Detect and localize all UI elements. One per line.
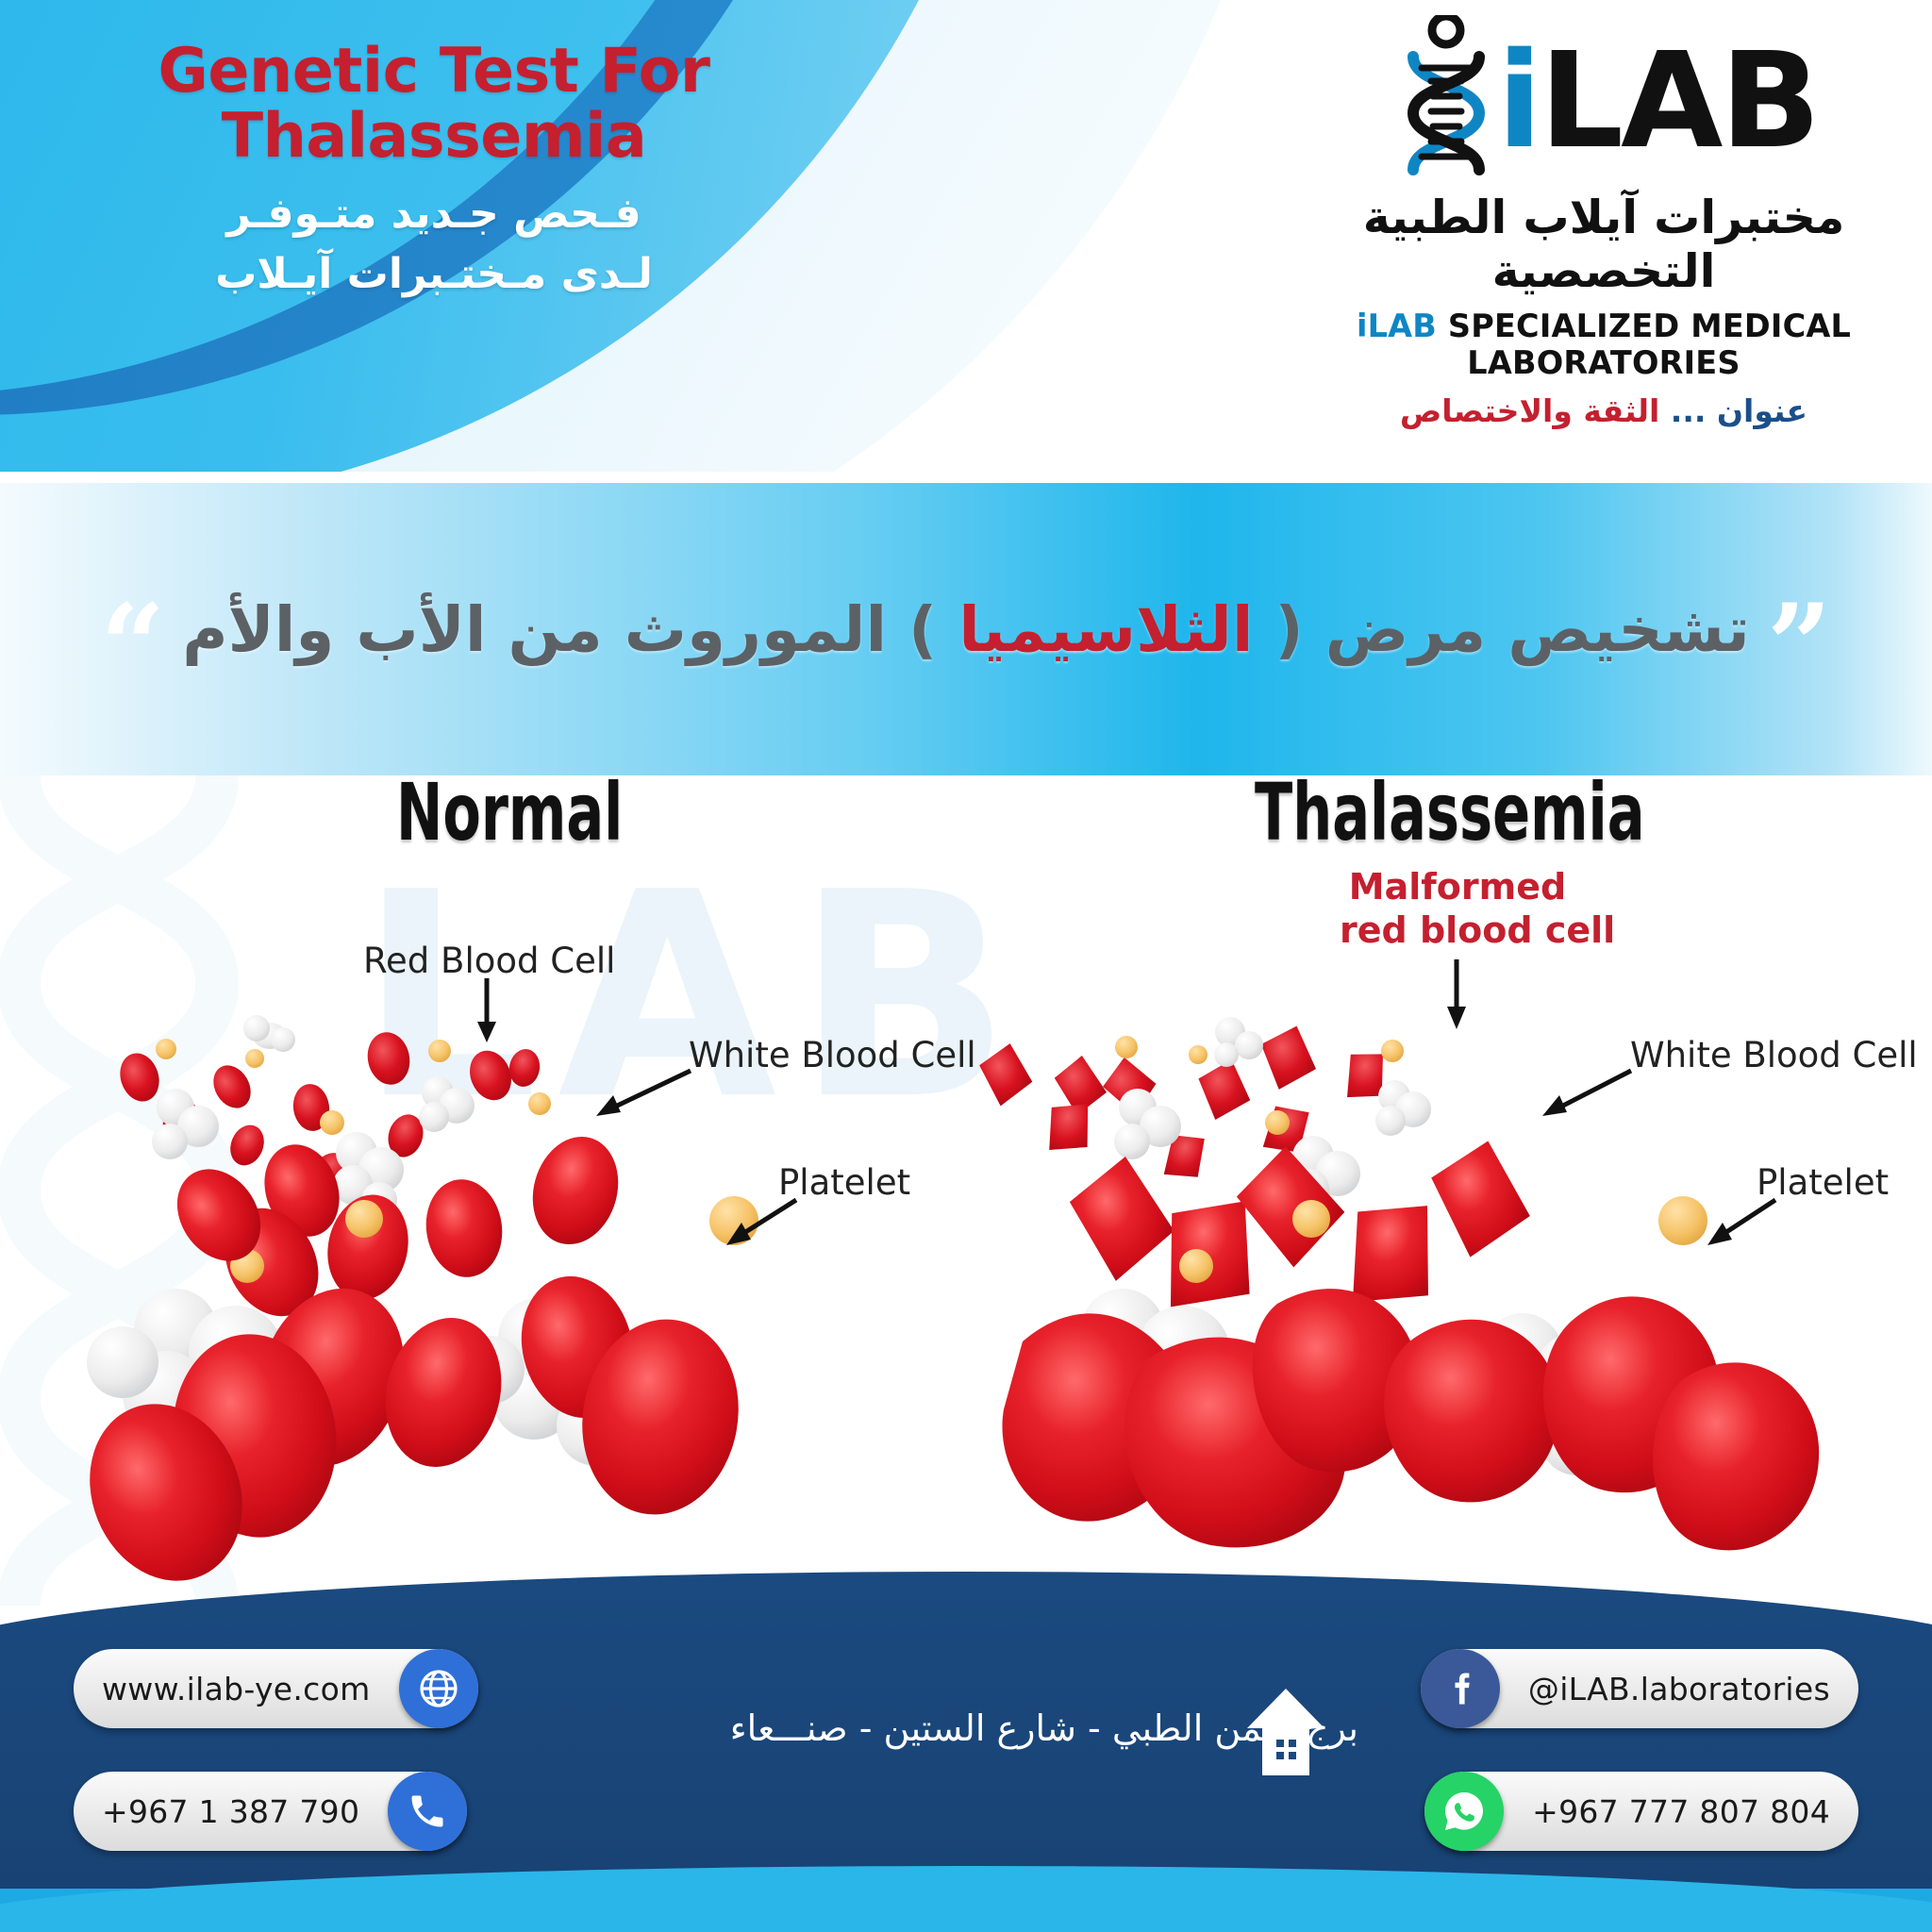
dna-helix-icon xyxy=(1390,15,1503,190)
whatsapp-icon[interactable] xyxy=(1424,1772,1504,1851)
address-text: برج اليمن الطبي - شارع الستين - صنـــعاء xyxy=(528,1707,1358,1749)
label-malformed-line2: red blood cell xyxy=(1340,908,1575,952)
poster-root: Genetic Test For Thalassemia فـحص جـديد … xyxy=(0,0,1932,1932)
header-section: Genetic Test For Thalassemia فـحص جـديد … xyxy=(0,0,1932,472)
quote-banner: ” تشخيص مرض ( الثلاسيميا ) الموروث من ال… xyxy=(0,483,1932,775)
label-white-blood-cell-thal: White Blood Cell xyxy=(1630,1035,1918,1075)
logo-slogan-prefix: عنوان ... xyxy=(1671,392,1807,429)
logo-english-rest: SPECIALIZED MEDICAL LABORATORIES xyxy=(1437,308,1851,381)
facebook-text: @iLAB.laboratories xyxy=(1500,1671,1858,1707)
logo-slogan-accent: الثقة والاختصاص xyxy=(1400,392,1659,429)
logo-english-name: iLAB SPECIALIZED MEDICAL LABORATORIES xyxy=(1302,308,1906,381)
logo-english-accent: iLAB xyxy=(1357,308,1437,344)
ilab-logo: iLAB مختبرات آيلاب الطبية التخصصية iLAB … xyxy=(1302,17,1906,429)
arrow-white-blood-cell-normal xyxy=(585,1063,698,1129)
arrow-platelet-normal xyxy=(717,1191,802,1257)
title-arabic-line2: لـدى مـختـبرات آيـلاب xyxy=(94,245,774,304)
thal-malformed-red-blood-cells xyxy=(1062,1135,1707,1320)
quote-highlight: الثلاسيميا xyxy=(958,593,1253,666)
logo-arabic-name: مختبرات آيلاب الطبية التخصصية xyxy=(1302,191,1906,298)
website-text: www.ilab-ye.com xyxy=(74,1671,399,1707)
label-malformed-line1: Malformed xyxy=(1340,865,1575,908)
logo-slogan: عنوان ... الثقة والاختصاص xyxy=(1302,392,1906,429)
house-icon xyxy=(1245,1687,1326,1782)
whatsapp-pill[interactable]: +967 777 807 804 xyxy=(1424,1772,1858,1851)
arrow-red-blood-cell xyxy=(472,978,509,1044)
thal-large-malformed-cells xyxy=(1002,1289,1819,1550)
quote-part2: ) الموروث من الأب والأم xyxy=(182,593,958,666)
label-malformed-red-blood-cell: Malformed red blood cell xyxy=(1340,865,1575,953)
arrow-white-blood-cell-thal xyxy=(1533,1063,1637,1129)
diagram-section: LAB Normal Thalassemia xyxy=(0,775,1932,1606)
quote-part1: تشخيص مرض ( xyxy=(1253,593,1749,666)
quote-text: تشخيص مرض ( الثلاسيميا ) الموروث من الأب… xyxy=(182,593,1750,666)
footer-section: www.ilab-ye.com +967 1 387 790 @iLAB xyxy=(0,1538,1932,1932)
arrow-platelet-thal xyxy=(1698,1191,1781,1257)
poster-title-block: Genetic Test For Thalassemia فـحص جـديد … xyxy=(94,40,774,305)
quote-inner: ” تشخيص مرض ( الثلاسيميا ) الموروث من ال… xyxy=(0,593,1932,666)
logo-wordmark-lab: LAB xyxy=(1540,25,1818,178)
label-white-blood-cell-normal: White Blood Cell xyxy=(689,1035,976,1075)
logo-wordmark: iLAB xyxy=(1497,31,1818,173)
logo-mark: iLAB xyxy=(1302,17,1906,187)
label-red-blood-cell: Red Blood Cell xyxy=(363,941,615,981)
facebook-icon[interactable] xyxy=(1421,1649,1500,1728)
title-arabic-line1: فـحص جـديد متـوفـر xyxy=(94,185,774,243)
facebook-pill[interactable]: @iLAB.laboratories xyxy=(1421,1649,1858,1728)
arrow-malformed-red-blood-cell xyxy=(1441,959,1479,1033)
whatsapp-text: +967 777 807 804 xyxy=(1504,1793,1858,1830)
logo-wordmark-i: i xyxy=(1497,25,1540,178)
title-english-line1: Genetic Test For xyxy=(94,40,774,105)
phone-pill[interactable]: +967 1 387 790 xyxy=(74,1772,467,1851)
title-english-line2: Thalassemia xyxy=(94,105,774,170)
website-pill[interactable]: www.ilab-ye.com xyxy=(74,1649,478,1728)
phone-text: +967 1 387 790 xyxy=(74,1793,388,1830)
globe-icon[interactable] xyxy=(399,1649,478,1728)
phone-icon[interactable] xyxy=(388,1772,467,1851)
